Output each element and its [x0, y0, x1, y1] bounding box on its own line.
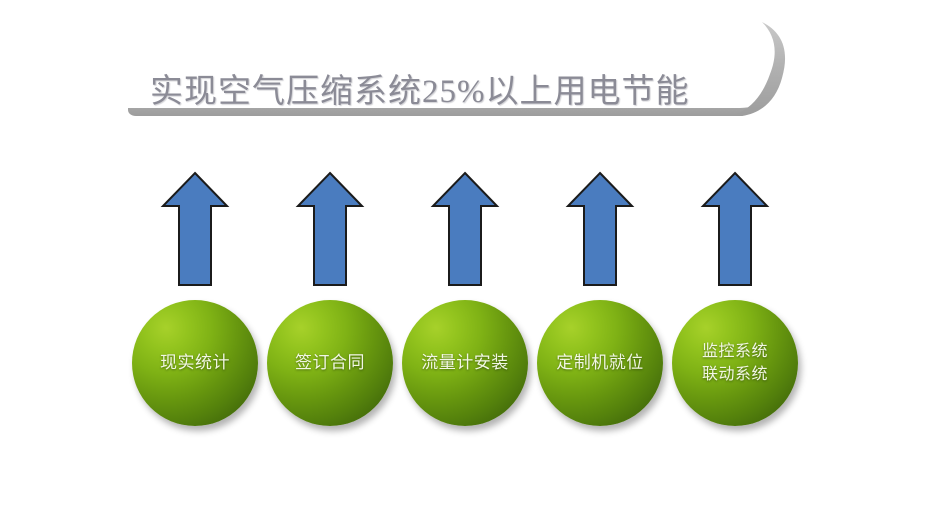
slide-canvas: 实现空气压缩系统25%以上用电节能 现实统计 签订合同: [0, 0, 945, 529]
flow-node-label-4: 定制机就位: [550, 352, 650, 374]
flow-node-circle-3[interactable]: 流量计安装: [402, 300, 528, 426]
flow-node-label-2: 签订合同: [289, 352, 371, 374]
flow-step-4[interactable]: 定制机就位: [534, 170, 666, 428]
up-arrow-icon: [534, 170, 666, 290]
flow-step-1[interactable]: 现实统计: [129, 170, 261, 428]
flow-node-circle-4[interactable]: 定制机就位: [537, 300, 663, 426]
flow-step-3[interactable]: 流量计安装: [399, 170, 531, 428]
up-arrow-icon: [264, 170, 396, 290]
process-flow: 现实统计 签订合同 流量计安装: [0, 0, 945, 529]
flow-step-5[interactable]: 监控系统 联动系统: [669, 170, 801, 428]
flow-node-label-3: 流量计安装: [415, 352, 515, 374]
flow-node-label-1: 现实统计: [154, 352, 236, 374]
up-arrow-icon: [399, 170, 531, 290]
flow-node-circle-2[interactable]: 签订合同: [267, 300, 393, 426]
flow-node-label-5: 监控系统 联动系统: [696, 340, 774, 386]
flow-step-2[interactable]: 签订合同: [264, 170, 396, 428]
flow-node-circle-5[interactable]: 监控系统 联动系统: [672, 300, 798, 426]
up-arrow-icon: [129, 170, 261, 290]
flow-node-circle-1[interactable]: 现实统计: [132, 300, 258, 426]
up-arrow-icon: [669, 170, 801, 290]
